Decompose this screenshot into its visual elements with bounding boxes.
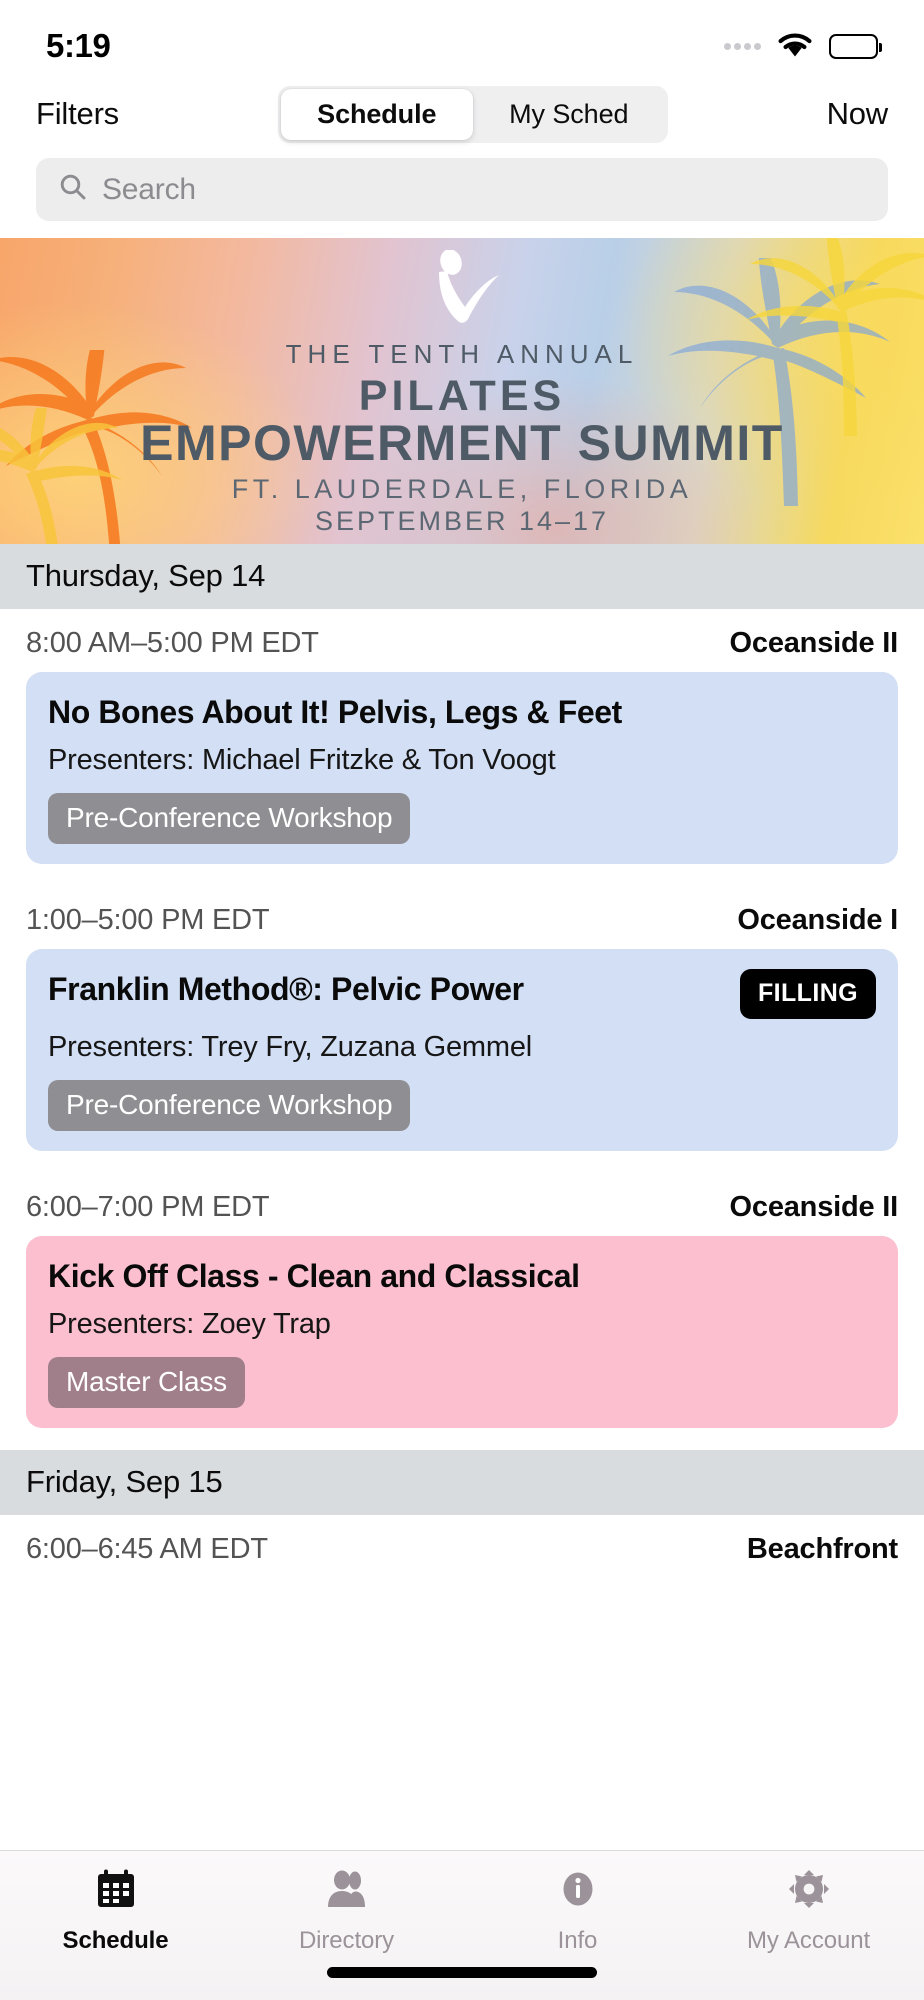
status-bar: 5:19 xyxy=(0,0,924,78)
banner-text-block: THE TENTH ANNUAL PILATES EMPOWERMENT SUM… xyxy=(0,238,924,544)
tab-bar-label-my-account: My Account xyxy=(747,1927,870,1955)
tab-bar-item-my-account[interactable]: My Account xyxy=(693,1867,924,1955)
session-presenters: Presenters: Michael Fritzke & Ton Voogt xyxy=(48,744,876,777)
session-tag: Master Class xyxy=(48,1357,245,1408)
session-tag: Pre-Conference Workshop xyxy=(48,793,410,844)
schedule-segmented-control[interactable]: Schedule My Sched xyxy=(278,86,668,143)
home-indicator xyxy=(327,1967,597,1978)
tab-bar-item-info[interactable]: Info xyxy=(462,1867,693,1955)
calendar-icon xyxy=(93,1867,139,1918)
schedule-list[interactable]: Thursday, Sep 14 8:00 AM–5:00 PM EDT Oce… xyxy=(0,544,924,1850)
session-title: Franklin Method®: Pelvic Power xyxy=(48,971,534,1009)
session-card-head: Kick Off Class - Clean and Classical xyxy=(48,1258,876,1296)
tab-my-sched[interactable]: My Sched xyxy=(473,89,665,140)
search-bar-container: Search xyxy=(0,150,924,238)
banner-line-5: SEPTEMBER 14–17 xyxy=(315,506,609,537)
session-meta: 8:00 AM–5:00 PM EDT Oceanside II xyxy=(0,609,924,672)
info-circle-icon xyxy=(555,1867,601,1918)
session-card[interactable]: Franklin Method®: Pelvic Power FILLING P… xyxy=(26,949,898,1151)
session-card[interactable]: No Bones About It! Pelvis, Legs & Feet P… xyxy=(26,672,898,864)
session-card[interactable]: Kick Off Class - Clean and Classical Pre… xyxy=(26,1236,898,1428)
session-room: Oceanside I xyxy=(737,904,898,937)
status-indicators xyxy=(724,29,878,63)
session-tag: Pre-Conference Workshop xyxy=(48,1080,410,1131)
session-room: Oceanside II xyxy=(730,1191,898,1224)
session-title: Kick Off Class - Clean and Classical xyxy=(48,1258,590,1296)
session-room: Oceanside II xyxy=(730,627,898,660)
session-time: 6:00–6:45 AM EDT xyxy=(26,1533,268,1566)
session-title: No Bones About It! Pelvis, Legs & Feet xyxy=(48,694,632,732)
status-badge: FILLING xyxy=(740,969,876,1019)
filters-button[interactable]: Filters xyxy=(36,96,119,132)
tab-schedule[interactable]: Schedule xyxy=(281,89,473,140)
banner-line-4: FT. LAUDERDALE, FLORIDA xyxy=(232,474,693,505)
gear-icon xyxy=(786,1867,832,1918)
nav-bar: Filters Schedule My Sched Now xyxy=(0,78,924,150)
battery-full-icon xyxy=(829,34,878,59)
tab-bar-label-directory: Directory xyxy=(299,1927,394,1955)
session-card-head: No Bones About It! Pelvis, Legs & Feet xyxy=(48,694,876,732)
pilates-swoosh-logo xyxy=(419,250,505,333)
day-header: Friday, Sep 15 xyxy=(0,1450,924,1515)
now-button[interactable]: Now xyxy=(827,96,888,132)
day-header: Thursday, Sep 14 xyxy=(0,544,924,609)
session-time: 8:00 AM–5:00 PM EDT xyxy=(26,627,319,660)
session-room: Beachfront xyxy=(747,1533,898,1566)
search-icon xyxy=(58,172,88,207)
people-icon xyxy=(324,1867,370,1918)
status-time: 5:19 xyxy=(46,27,110,65)
session-time: 1:00–5:00 PM EDT xyxy=(26,904,269,937)
tab-bar-label-schedule: Schedule xyxy=(63,1927,169,1955)
session-meta: 6:00–7:00 PM EDT Oceanside II xyxy=(0,1173,924,1236)
signal-dots-icon xyxy=(724,43,761,50)
conference-banner[interactable]: THE TENTH ANNUAL PILATES EMPOWERMENT SUM… xyxy=(0,238,924,544)
tab-bar-label-info: Info xyxy=(558,1927,598,1955)
session-meta: 6:00–6:45 AM EDT Beachfront xyxy=(0,1515,924,1578)
banner-line-2: PILATES xyxy=(359,374,565,419)
tab-bar-item-schedule[interactable]: Schedule xyxy=(0,1867,231,1955)
banner-line-3: EMPOWERMENT SUMMIT xyxy=(140,417,784,470)
search-placeholder: Search xyxy=(102,173,196,207)
session-card-head: Franklin Method®: Pelvic Power FILLING xyxy=(48,971,876,1019)
session-presenters: Presenters: Zoey Trap xyxy=(48,1308,876,1341)
banner-line-1: THE TENTH ANNUAL xyxy=(286,339,639,370)
wifi-icon xyxy=(775,29,815,63)
app-screen: 5:19 Filters Schedule My Sched Now xyxy=(0,0,924,2000)
search-input[interactable]: Search xyxy=(36,158,888,221)
tab-bar-item-directory[interactable]: Directory xyxy=(231,1867,462,1955)
session-meta: 1:00–5:00 PM EDT Oceanside I xyxy=(0,886,924,949)
session-presenters: Presenters: Trey Fry, Zuzana Gemmel xyxy=(48,1031,876,1064)
session-time: 6:00–7:00 PM EDT xyxy=(26,1191,269,1224)
